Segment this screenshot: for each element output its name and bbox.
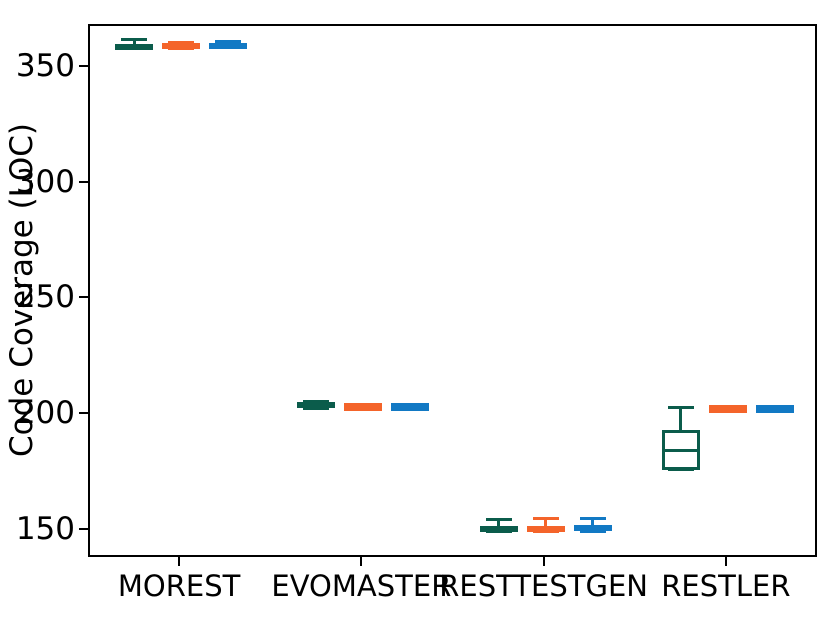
median-line [344,403,382,406]
median-line [391,403,429,406]
whisker-cap-upper [486,518,512,521]
y-tick-mark [79,181,88,183]
whisker-upper [679,407,682,430]
x-tick-mark [725,557,727,566]
median-line [756,405,794,408]
whisker-cap-upper [580,517,606,520]
median-line [209,43,247,46]
y-tick-mark [79,296,88,298]
median-line [574,527,612,530]
x-tick-label: RESTLER [566,569,830,603]
x-tick-mark [543,557,545,566]
plot-area [90,26,815,555]
whisker-cap-upper [668,406,694,409]
median-line [297,405,335,408]
y-tick-label: 300 [3,163,75,201]
y-tick-label: 200 [3,394,75,432]
median-line [162,43,200,46]
y-tick-mark [79,528,88,530]
x-tick-mark [178,557,180,566]
median-line [709,405,747,408]
median-line [115,44,153,47]
median-line [662,449,700,452]
y-tick-mark [79,65,88,67]
y-tick-label: 250 [3,278,75,316]
y-tick-mark [79,412,88,414]
whisker-cap-upper [121,38,147,41]
median-line [527,527,565,530]
y-tick-label: 150 [3,510,75,548]
y-tick-label: 350 [3,47,75,85]
plot-frame [88,24,817,557]
whisker-cap-upper [533,517,559,520]
median-line [480,527,518,530]
x-tick-mark [360,557,362,566]
boxplot-figure: Code Coverage (LOC) 150200250300350 MORE… [0,0,830,623]
